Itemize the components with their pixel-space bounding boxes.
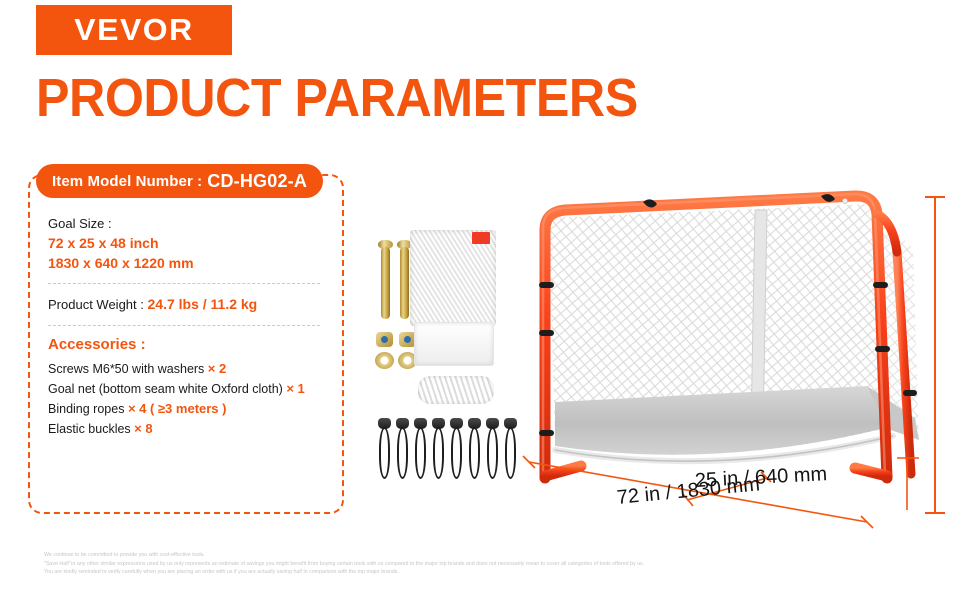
page-title: PRODUCT PARAMETERS — [36, 68, 638, 128]
elastic-buckle-icon — [484, 418, 500, 480]
accessory-item-binding-ropes: Binding ropes × 4 ( ≥3 meters ) — [48, 399, 328, 419]
product-weight-value: 24.7 lbs / 11.2 kg — [148, 296, 258, 312]
disclaimer-line-1: We continue to be committed to provide y… — [44, 551, 934, 560]
net-red-tag — [472, 232, 490, 244]
accessory-name: Elastic buckles — [48, 422, 131, 436]
vevor-logo: VEVOR — [36, 5, 232, 55]
elastic-buckle-icon — [448, 418, 464, 480]
net-mesh — [410, 230, 496, 326]
goal-size-mm: 1830 x 640 x 1220 mm — [48, 253, 328, 273]
specification-content: Goal Size : 72 x 25 x 48 inch 1830 x 640… — [48, 214, 328, 439]
product-weight-row: Product Weight : 24.7 lbs / 11.2 kg — [48, 294, 328, 315]
net-oxford-cloth-seam — [414, 322, 494, 366]
accessory-qty: × 2 — [208, 361, 226, 376]
screw-shaft-icon — [400, 247, 409, 319]
screw-shaft-icon — [381, 247, 390, 319]
nut-icon — [376, 332, 393, 347]
goal-size-inch: 72 x 25 x 48 inch — [48, 233, 328, 253]
accessory-parts-image — [370, 228, 535, 483]
disclaimer: We continue to be committed to provide y… — [44, 551, 934, 577]
accessory-item-elastic-buckles: Elastic buckles × 8 — [48, 419, 328, 439]
accessory-name: Screws M6*50 with washers — [48, 362, 204, 376]
elastic-buckle-icon — [466, 418, 482, 480]
divider-bottom — [48, 325, 320, 326]
elastic-buckle-icon — [394, 418, 410, 480]
accessory-qty: × 8 — [134, 421, 152, 436]
elastic-buckle-icon — [430, 418, 446, 480]
disclaimer-line-3: You are kindly reminded to verify carefu… — [44, 568, 934, 577]
divider-top — [48, 283, 320, 284]
accessory-name: Binding ropes — [48, 402, 124, 416]
accessory-qty: × 4 ( ≥3 meters ) — [128, 401, 227, 416]
model-number-label: Item Model Number : — [52, 173, 202, 190]
accessories-title: Accessories : — [48, 336, 328, 353]
product-parameters-page: VEVOR PRODUCT PARAMETERS Item Model Numb… — [0, 0, 970, 600]
accessory-name: Goal net (bottom seam white Oxford cloth… — [48, 382, 283, 396]
model-number-value: CD-HG02-A — [207, 171, 307, 192]
washer-icon — [375, 352, 394, 369]
vevor-logo-text: VEVOR — [74, 12, 194, 48]
goal-size-label: Goal Size : — [48, 214, 328, 233]
goal-net-bundle-image — [410, 230, 496, 370]
binding-rope-bundle-image — [418, 376, 494, 404]
accessory-item-screws: Screws M6*50 with washers × 2 — [48, 359, 328, 379]
elastic-buckles-image — [370, 418, 530, 482]
accessory-qty: × 1 — [286, 381, 304, 396]
product-weight-label: Product Weight : — [48, 297, 144, 312]
model-number-badge: Item Model Number : CD-HG02-A — [36, 164, 323, 198]
elastic-buckle-icon — [412, 418, 428, 480]
disclaimer-line-2: "Save Half"or any other similar expressi… — [44, 560, 934, 569]
elastic-buckle-icon — [376, 418, 392, 480]
accessory-item-goal-net: Goal net (bottom seam white Oxford cloth… — [48, 379, 328, 399]
